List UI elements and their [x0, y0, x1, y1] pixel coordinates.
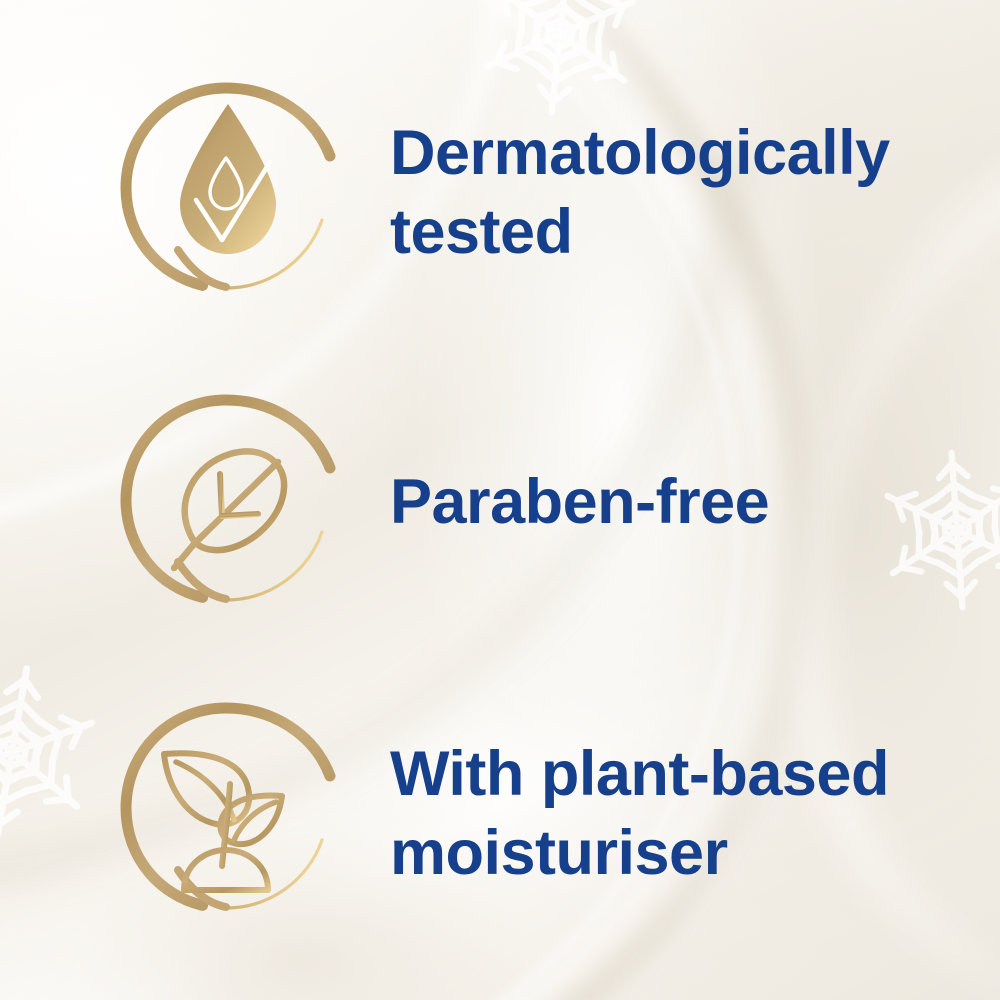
badge-plant-based-moisturiser — [118, 700, 338, 920]
feature-row-plant-based-moisturiser: With plant-based moisturiser — [0, 700, 1000, 920]
droplet-check-icon — [118, 80, 338, 300]
sprout-icon — [118, 700, 338, 920]
product-benefits-banner: Dermatologically tested Paraben-free — [0, 0, 1000, 1000]
badge-paraben-free — [118, 392, 338, 612]
feature-label-dermatologically-tested: Dermatologically tested — [390, 114, 1000, 272]
feature-row-dermatologically-tested: Dermatologically tested — [0, 80, 1000, 300]
feature-row-paraben-free: Paraben-free — [0, 392, 1000, 612]
leaf-icon — [118, 392, 338, 612]
feature-label-plant-based-moisturiser: With plant-based moisturiser — [390, 735, 1000, 893]
feature-label-paraben-free: Paraben-free — [390, 463, 1000, 542]
badge-dermatologically-tested — [118, 80, 338, 300]
